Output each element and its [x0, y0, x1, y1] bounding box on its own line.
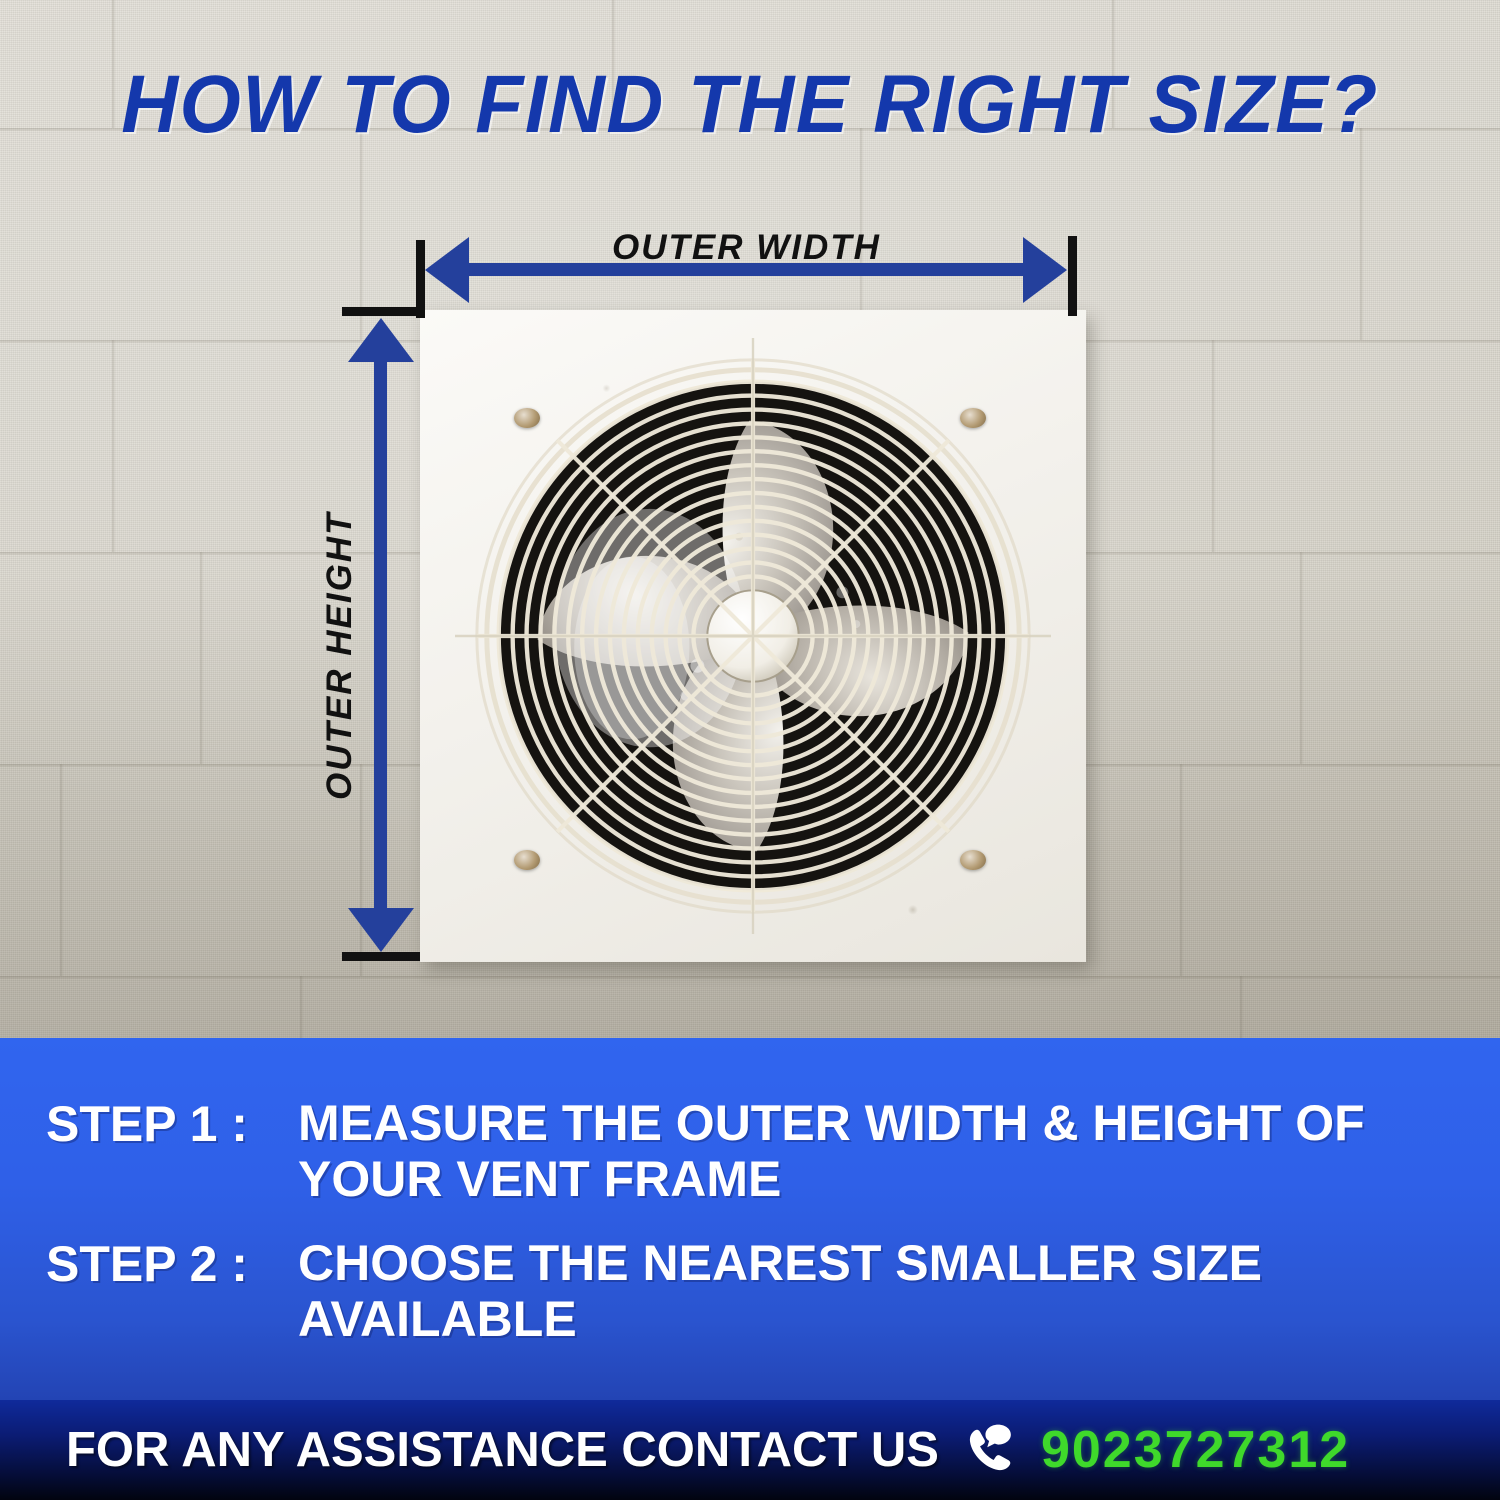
exhaust-fan-illustration	[455, 338, 1051, 934]
mount-bolt	[960, 850, 986, 870]
width-arrowhead-right	[1023, 237, 1067, 303]
step-1-text: MEASURE THE OUTER WIDTH & HEIGHT OF YOUR…	[298, 1095, 1378, 1207]
step-2-key: STEP 2 :	[46, 1235, 298, 1293]
height-arrowhead-bottom	[348, 908, 414, 952]
step-row-2: STEP 2 : CHOOSE THE NEAREST SMALLER SIZE…	[46, 1235, 1378, 1347]
step-row-1: STEP 1 : MEASURE THE OUTER WIDTH & HEIGH…	[46, 1095, 1378, 1207]
height-arrow-shaft	[374, 348, 387, 922]
infographic-page: HOW TO FIND THE RIGHT SIZE?	[0, 0, 1500, 1500]
vent-fan-panel	[420, 310, 1086, 962]
mount-bolt	[960, 408, 986, 428]
step-1-key: STEP 1 :	[46, 1095, 298, 1153]
phone-call-icon	[961, 1421, 1019, 1479]
contact-label: FOR ANY ASSISTANCE CONTACT US	[66, 1422, 939, 1478]
fan-svg	[455, 338, 1051, 934]
steps-panel: STEP 1 : MEASURE THE OUTER WIDTH & HEIGH…	[0, 1038, 1500, 1400]
width-arrowhead-left	[425, 237, 469, 303]
mount-bolt	[514, 408, 540, 428]
width-tick-right	[1068, 236, 1077, 316]
outer-width-label: OUTER WIDTH	[612, 228, 881, 268]
page-title: HOW TO FIND THE RIGHT SIZE?	[30, 58, 1470, 152]
contact-phone-number[interactable]: 9023727312	[1041, 1420, 1350, 1480]
mount-bolt	[514, 850, 540, 870]
step-2-text: CHOOSE THE NEAREST SMALLER SIZE AVAILABL…	[298, 1235, 1378, 1347]
outer-height-label: OUTER HEIGHT	[320, 512, 360, 800]
height-tick-bottom	[342, 952, 420, 961]
height-arrowhead-top	[348, 318, 414, 362]
contact-footer: FOR ANY ASSISTANCE CONTACT US 9023727312	[0, 1400, 1500, 1500]
height-tick-top	[342, 307, 420, 316]
